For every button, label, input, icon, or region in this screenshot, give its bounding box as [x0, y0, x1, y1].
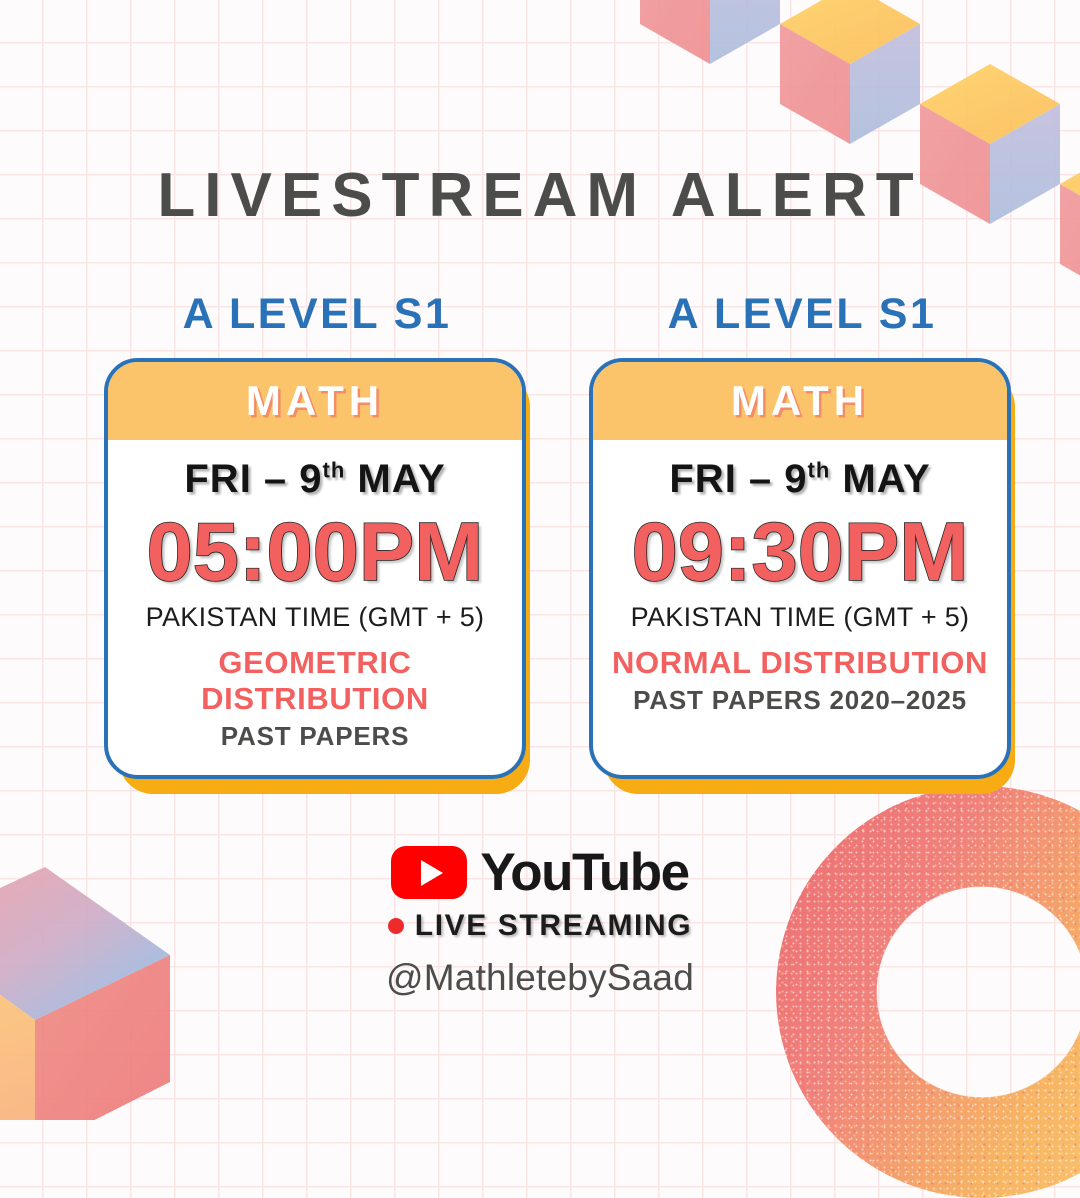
card-surface: MATH FRI – 9th MAY 09:30PM PAKISTAN TIME… [589, 358, 1011, 779]
live-streaming-label: LIVE STREAMING [415, 909, 692, 943]
card-level-label: A LEVEL S1 [589, 290, 1015, 339]
card-wrapper: MATH FRI – 9th MAY 05:00PM PAKISTAN TIME… [104, 358, 530, 794]
card-timezone: PAKISTAN TIME (GMT + 5) [146, 602, 485, 633]
card-date-ordinal: th [323, 458, 346, 483]
card-topic: GEOMETRIC DISTRIBUTION [108, 645, 522, 717]
card-subject-header: MATH [593, 362, 1007, 440]
livestream-card-left: A LEVEL S1 MATH FRI – 9th MAY 05:00PM PA… [104, 290, 530, 794]
card-date-ordinal: th [808, 458, 831, 483]
card-time: 05:00PM [147, 504, 484, 600]
card-subject-label: MATH [246, 377, 384, 425]
channel-handle: @MathletebySaad [0, 957, 1080, 999]
card-body: FRI – 9th MAY 05:00PM PAKISTAN TIME (GMT… [108, 440, 522, 775]
card-topic: NORMAL DISTRIBUTION [612, 645, 988, 681]
card-surface: MATH FRI – 9th MAY 05:00PM PAKISTAN TIME… [104, 358, 526, 779]
footer: YouTube LIVE STREAMING @MathletebySaad [0, 842, 1080, 999]
isometric-cube-cascade-decoration [640, 0, 1080, 304]
livestream-card-right: A LEVEL S1 MATH FRI – 9th MAY 09:30PM PA… [589, 290, 1015, 794]
youtube-wordmark: YouTube [480, 842, 688, 903]
card-wrapper: MATH FRI – 9th MAY 09:30PM PAKISTAN TIME… [589, 358, 1015, 794]
card-time: 09:30PM [632, 504, 969, 600]
card-date-month: MAY [830, 457, 930, 501]
live-streaming-badge: LIVE STREAMING [0, 909, 1080, 943]
card-subject-header: MATH [108, 362, 522, 440]
card-date-text: FRI – 9 [669, 457, 807, 501]
card-level-label: A LEVEL S1 [104, 290, 530, 339]
card-body: FRI – 9th MAY 09:30PM PAKISTAN TIME (GMT… [593, 440, 1007, 775]
youtube-play-icon[interactable] [391, 846, 467, 899]
card-timezone: PAKISTAN TIME (GMT + 5) [631, 602, 970, 633]
card-date-text: FRI – 9 [184, 457, 322, 501]
card-date: FRI – 9th MAY [184, 457, 445, 502]
card-date: FRI – 9th MAY [669, 457, 930, 502]
page-title: LIVESTREAM ALERT [0, 160, 1080, 231]
live-dot-icon [388, 918, 404, 934]
card-papers: PAST PAPERS [221, 721, 409, 752]
youtube-logo[interactable]: YouTube [0, 842, 1080, 903]
card-date-month: MAY [345, 457, 445, 501]
play-triangle-icon [421, 860, 443, 886]
card-papers: PAST PAPERS 2020–2025 [633, 685, 967, 716]
card-subject-label: MATH [731, 377, 869, 425]
